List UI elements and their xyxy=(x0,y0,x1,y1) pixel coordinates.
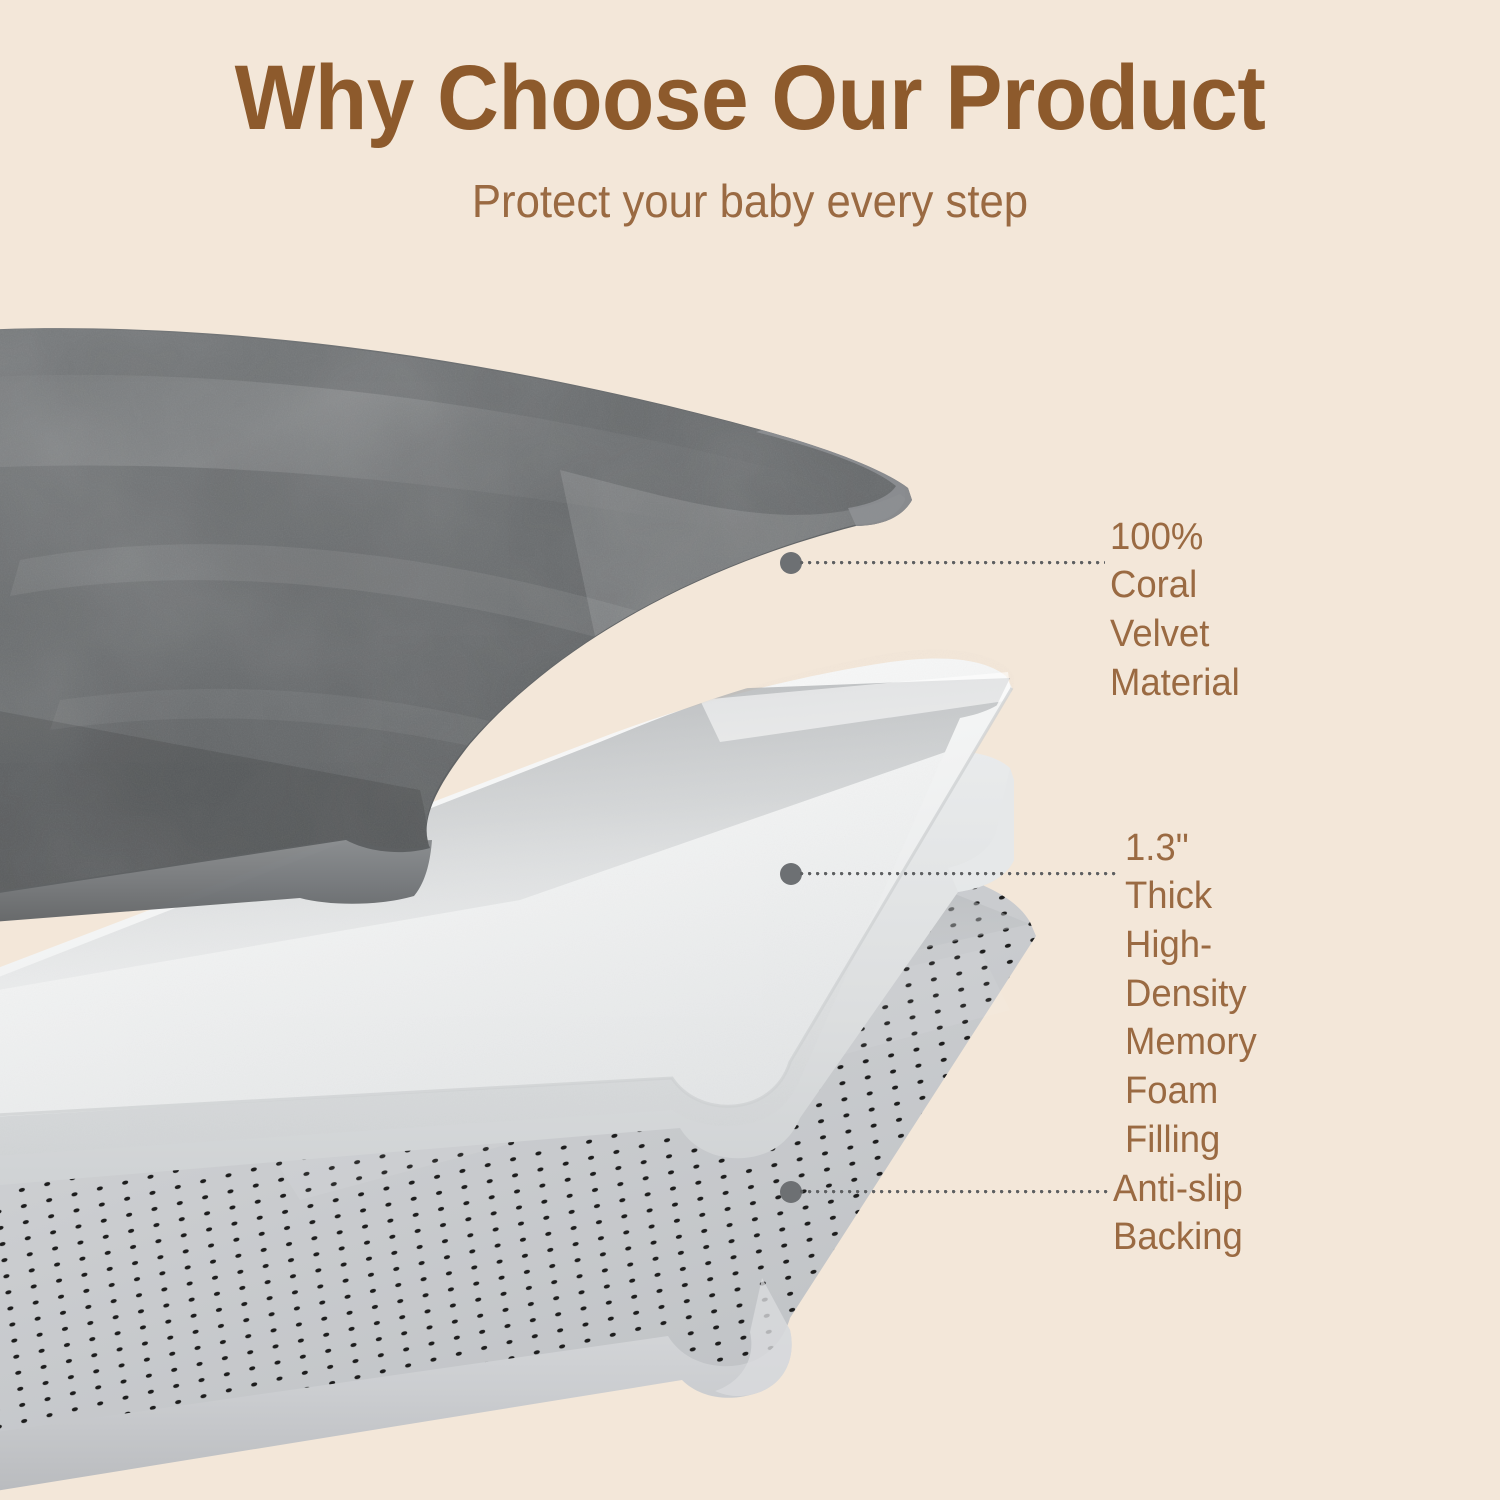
callout-leader-line xyxy=(800,561,1105,565)
callout-label: 100% Coral Velvet Material xyxy=(1110,513,1240,708)
infographic-canvas: Why Choose Our Product Protect your baby… xyxy=(0,0,1500,1500)
callout-label: 1.3" Thick High-Density Memory Foam Fill… xyxy=(1125,824,1257,1164)
callout-marker-dot xyxy=(780,1181,802,1203)
page-title: Why Choose Our Product xyxy=(53,0,1448,146)
callout-leader-line xyxy=(800,872,1120,876)
header: Why Choose Our Product Protect your baby… xyxy=(0,0,1500,226)
callout-leader-line xyxy=(800,1190,1108,1194)
page-subtitle: Protect your baby every step xyxy=(38,146,1463,227)
callout-label: Anti-slip Backing xyxy=(1113,1165,1243,1262)
callout-marker-dot xyxy=(780,863,802,885)
callout-marker-dot xyxy=(780,552,802,574)
